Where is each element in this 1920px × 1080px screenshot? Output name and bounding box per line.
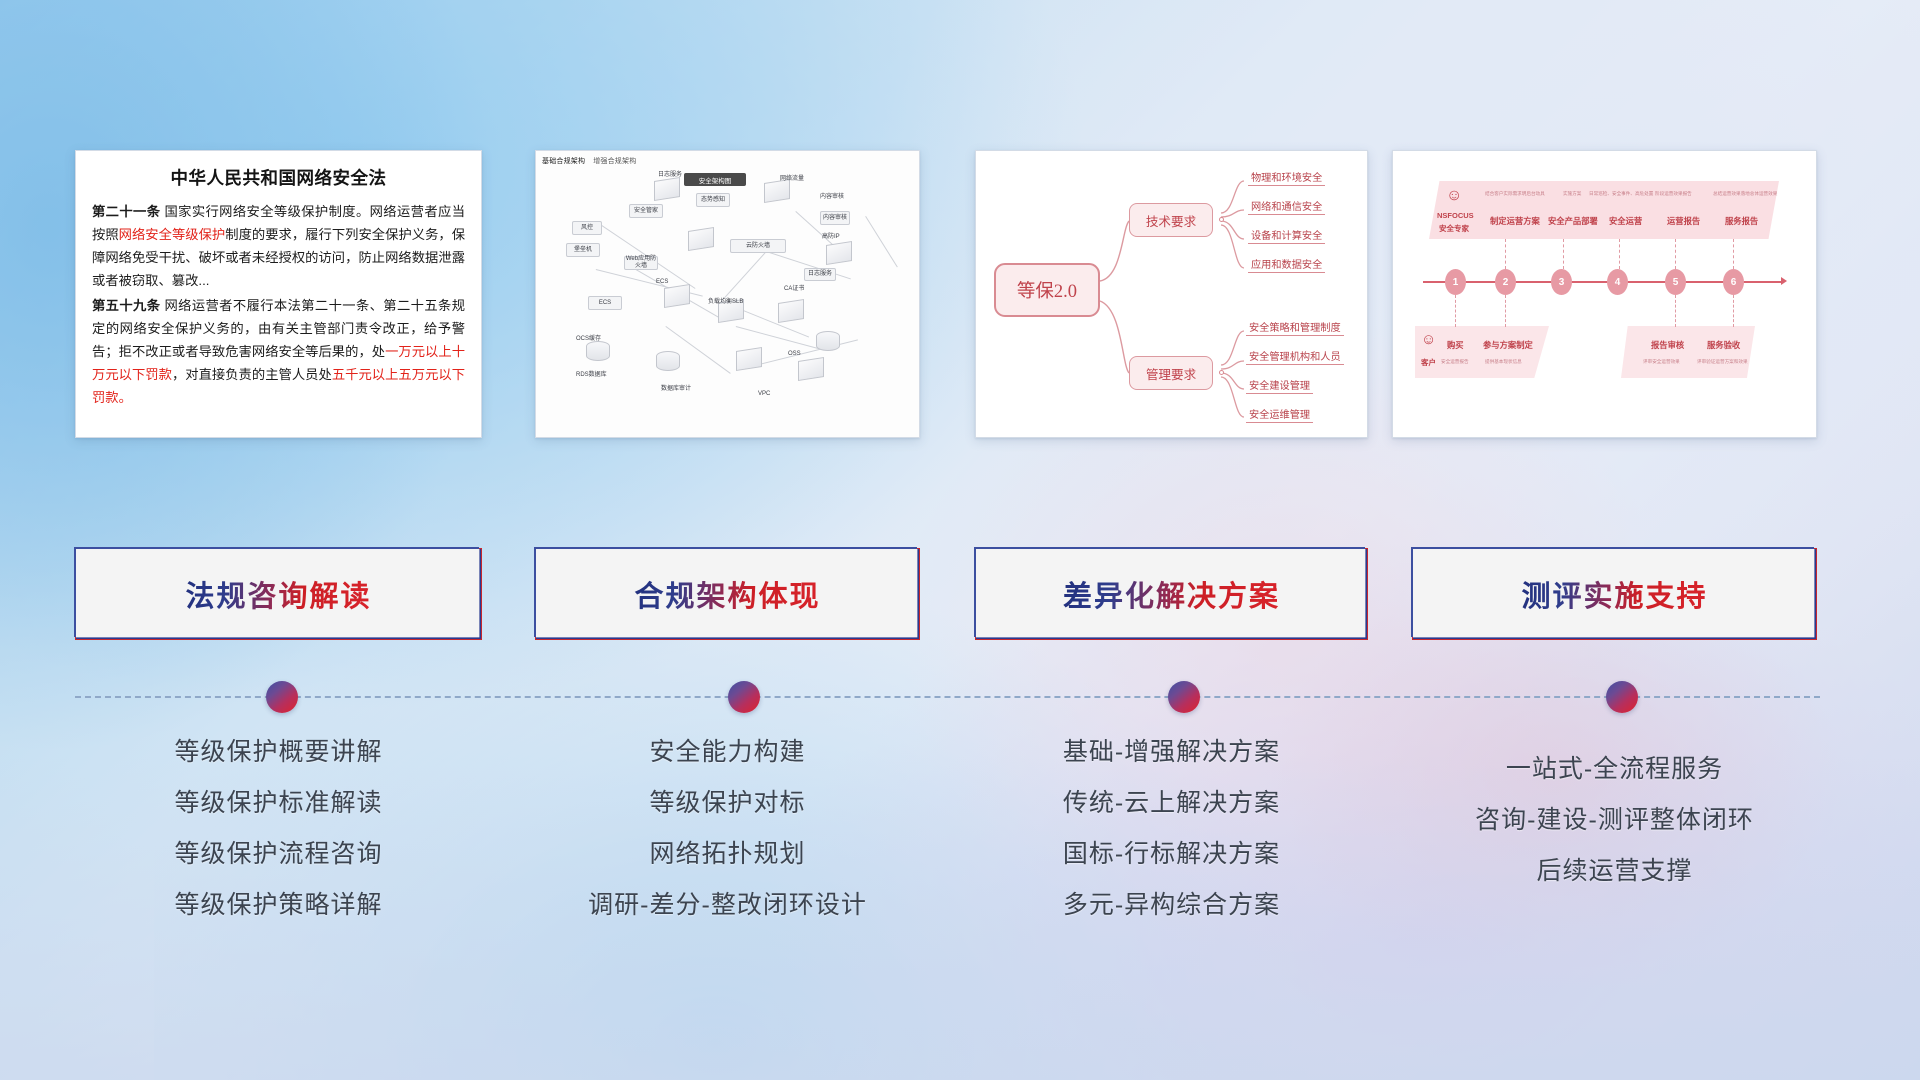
ns-top-item-title: 安全产品部署 [1548, 215, 1598, 227]
law-paragraph-59: 第五十九条 网络运营者不履行本法第二十一条、第二十五条规定的网络安全保护义务的，… [92, 295, 465, 409]
ns-top-item-sub: 日常巡检、安全事件、高危处置 [1589, 191, 1653, 197]
customer-person-icon: ☺ [1421, 331, 1436, 348]
ns-step-node[interactable]: 4 [1607, 269, 1628, 295]
ns-step-node[interactable]: 5 [1665, 269, 1686, 295]
mindmap-leaf: 设备和计算安全 [1248, 227, 1325, 244]
arch-node: ECS [588, 296, 622, 310]
ns-top-band [1429, 181, 1779, 239]
mindmap-collapse-dot[interactable] [1219, 217, 1224, 222]
ns-step-node[interactable]: 1 [1445, 269, 1466, 295]
feature-item: 等级保护流程咨询 [75, 842, 482, 867]
card-mlps-mindmap[interactable]: 等保2.0 技术要求 物理和环境安全 网络和通信安全 设备和计算安全 应用和数据… [975, 150, 1368, 438]
feature-item: 一站式-全流程服务 [1412, 757, 1817, 782]
ns-top-actor-title: NSFOCUS [1437, 211, 1474, 220]
arch-tabs: 基础合规架构增强合规架构 [542, 156, 636, 166]
feature-column-1: 等级保护概要讲解 等级保护标准解读 等级保护流程咨询 等级保护策略详解 [75, 740, 482, 944]
ns-step-node[interactable]: 6 [1723, 269, 1744, 295]
ns-bottom-item-title: 参与方案制定 [1483, 339, 1533, 351]
section-title-box-2[interactable]: 合规架构体现 [535, 548, 920, 640]
section-title-row: 法规咨询解读 合规架构体现 差异化解决方案 测评实施支持 [0, 548, 1920, 644]
timeline-dashed-line [75, 696, 1820, 698]
section-title-box-4[interactable]: 测评实施支持 [1412, 548, 1817, 640]
timeline-dot[interactable] [1606, 681, 1638, 713]
ns-bottom-item-sub: 提供基本现状信息 [1485, 359, 1522, 365]
feature-item: 等级保护策略详解 [75, 893, 482, 918]
expert-person-icon: ☺ [1446, 187, 1462, 205]
mindmap-leaf: 应用和数据安全 [1248, 256, 1325, 273]
timeline-dot[interactable] [1168, 681, 1200, 713]
card-cybersecurity-law[interactable]: 中华人民共和国网络安全法 第二十一条 国家实行网络安全等级保护制度。网络运营者应… [75, 150, 482, 438]
mindmap-root: 等保2.0 [994, 263, 1100, 317]
card-nsfocus-service-timeline[interactable]: ☺ NSFOCUS 安全专家 结合客户实际需求明后台动具 制定运营方案 实施方案… [1392, 150, 1817, 438]
ns-bottom-item-sub: 评审安全运营效果 [1643, 359, 1680, 365]
mindmap-leaf: 网络和通信安全 [1248, 198, 1325, 215]
ns-top-item-title: 服务报告 [1725, 215, 1758, 227]
ns-top-item-sub: 实施方案 [1563, 191, 1581, 197]
feature-item: 国标-行标解决方案 [975, 842, 1368, 867]
ns-top-item-sub: 总结运营效果落地总体运营效果 [1713, 191, 1777, 197]
law-title: 中华人民共和国网络安全法 [92, 165, 465, 190]
arch-node: 云防火墙 [730, 239, 786, 253]
feature-item: 多元-异构综合方案 [975, 893, 1368, 918]
arch-node: 安全管家 [629, 204, 663, 218]
thumbnail-card-row: 中华人民共和国网络安全法 第二十一条 国家实行网络安全等级保护制度。网络运营者应… [0, 150, 1920, 440]
timeline [75, 696, 1820, 698]
arch-node: Web应用防火墙 [624, 256, 658, 270]
ns-step-node[interactable]: 2 [1495, 269, 1516, 295]
mindmap-branch-management: 管理要求 [1129, 356, 1213, 390]
mindmap-branch-technical: 技术要求 [1129, 203, 1213, 237]
feature-item: 后续运营支撑 [1412, 859, 1817, 884]
card-compliance-architecture[interactable]: 基础合规架构增强合规架构 安全架构图 安全管家 态势感知 风控 [535, 150, 920, 438]
feature-item: 等级保护对标 [535, 791, 920, 816]
feature-column-4: 一站式-全流程服务 咨询-建设-测评整体闭环 后续运营支撑 [1412, 740, 1817, 910]
ns-top-item-sub: 结合客户实际需求明后台动具 [1485, 191, 1545, 197]
mindmap-leaf: 物理和环境安全 [1248, 169, 1325, 186]
ns-top-item-sub: 阶段运营效果报告 [1655, 191, 1692, 197]
feature-column-2: 安全能力构建 等级保护对标 网络拓扑规划 调研-差分-整改闭环设计 [535, 740, 920, 944]
ns-bottom-item-sub: 评审验证运营方案和效果 [1697, 359, 1748, 365]
arch-header-chip: 安全架构图 [684, 173, 746, 186]
feature-item: 传统-云上解决方案 [975, 791, 1368, 816]
section-title-box-3[interactable]: 差异化解决方案 [975, 548, 1368, 640]
feature-item: 网络拓扑规划 [535, 842, 920, 867]
arch-node: 态势感知 [696, 193, 730, 207]
arch-node: 风控 [572, 221, 602, 235]
section-title-label: 合规架构体现 [634, 573, 820, 615]
feature-column-3: 基础-增强解决方案 传统-云上解决方案 国标-行标解决方案 多元-异构综合方案 [975, 740, 1368, 944]
feature-item: 调研-差分-整改闭环设计 [535, 893, 920, 918]
arch-node: 堡垒机 [566, 243, 600, 257]
ns-bottom-item-title: 报告审核 [1651, 339, 1684, 351]
ns-top-actor-sub: 安全专家 [1439, 223, 1469, 234]
section-title-label: 测评实施支持 [1521, 573, 1707, 615]
feature-column-row: 等级保护概要讲解 等级保护标准解读 等级保护流程咨询 等级保护策略详解 安全能力… [0, 740, 1920, 970]
mindmap-leaf: 安全管理机构和人员 [1246, 348, 1344, 365]
feature-item: 等级保护标准解读 [75, 791, 482, 816]
mindmap-leaf: 安全建设管理 [1246, 377, 1313, 394]
section-title-box-1[interactable]: 法规咨询解读 [75, 548, 482, 640]
ns-bottom-item-title: 服务验收 [1707, 339, 1740, 351]
mindmap-leaf: 安全运维管理 [1246, 406, 1313, 423]
feature-item: 基础-增强解决方案 [975, 740, 1368, 765]
ns-bottom-right-band [1621, 326, 1755, 378]
arch-node: 内容审核 [820, 211, 850, 225]
mindmap-leaf: 安全策略和管理制度 [1246, 319, 1344, 336]
section-title-label: 法规咨询解读 [185, 573, 371, 615]
arch-node: 日志服务 [804, 268, 836, 281]
feature-item: 等级保护概要讲解 [75, 740, 482, 765]
mindmap-collapse-dot[interactable] [1219, 370, 1224, 375]
ns-top-item-title: 制定运营方案 [1490, 215, 1540, 227]
law-paragraph-21: 第二十一条 国家实行网络安全等级保护制度。网络运营者应当按照网络安全等级保护制度… [92, 201, 465, 292]
ns-bottom-actor-title: 客户 [1421, 357, 1436, 368]
feature-item: 咨询-建设-测评整体闭环 [1412, 808, 1817, 833]
ns-bottom-item-title: 购买 [1447, 339, 1464, 351]
section-title-label: 差异化解决方案 [1063, 573, 1280, 615]
ns-top-item-title: 安全运营 [1609, 215, 1642, 227]
feature-item: 安全能力构建 [535, 740, 920, 765]
ns-top-item-title: 运营报告 [1667, 215, 1700, 227]
ns-axis-arrow-icon [1781, 277, 1787, 285]
timeline-dot[interactable] [266, 681, 298, 713]
ns-bottom-item-sub: 安全运营报告 [1441, 359, 1469, 365]
timeline-dot[interactable] [728, 681, 760, 713]
ns-step-node[interactable]: 3 [1551, 269, 1572, 295]
